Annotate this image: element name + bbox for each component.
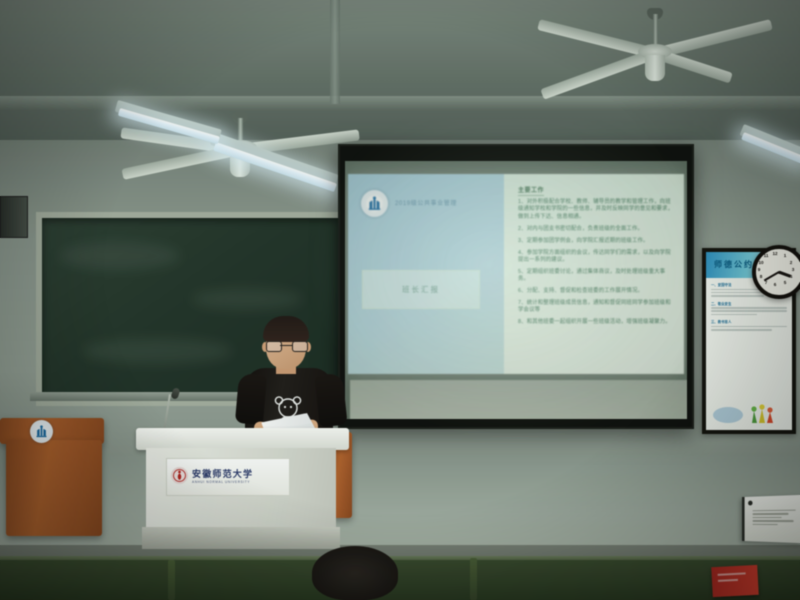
poster-section: 三、教书育人 [711, 319, 787, 330]
notice-board-icon [742, 495, 800, 543]
poster-section: 二、敬业爱生 [711, 301, 787, 316]
slide-list-item: 5、定期组织班委讨论，通过集体商议，及时处理班级重大事务。 [518, 269, 676, 284]
poster-section-title: 三、教书育人 [711, 319, 787, 324]
clock-numeral: 5 [781, 280, 789, 285]
slide-callout-text: 班长汇报 [402, 284, 440, 295]
ceiling-fan-right [530, 14, 780, 84]
clock-numeral: 4 [787, 274, 795, 279]
colorful-illustration-icon [712, 403, 784, 425]
lectern: 安徽师范大学 ANHUI NORMAL UNIVERSITY [140, 428, 345, 553]
wooden-chair-left-leg [6, 440, 102, 536]
clock-center-pin [778, 271, 781, 274]
lectern-name-en: ANHUI NORMAL UNIVERSITY [192, 480, 250, 484]
lectern-nameplate: 安徽师范大学 ANHUI NORMAL UNIVERSITY [166, 458, 290, 496]
slide-list-item: 3、定期参加团学例会，向学院汇报近期的班级工作。 [518, 238, 676, 245]
desk-divider [470, 558, 477, 600]
clock-numeral: 7 [762, 280, 770, 285]
university-seal-icon [171, 467, 188, 484]
poster-section-title: 二、敬业爱生 [711, 301, 787, 306]
clock-numeral: 3 [789, 267, 797, 272]
clock-numeral: 8 [757, 274, 765, 279]
clock-numeral: 12 [771, 251, 779, 256]
university-emblem-icon [30, 420, 53, 443]
slide-list-item: 2、对内与团支书密切配合，负责班级的全面工作。 [518, 226, 676, 233]
lectern-base [142, 527, 340, 549]
projection-screen: 2019级公共事业管理 班长汇报 主要工作 1、对外积极配合学校、教师、辅导员的… [338, 144, 694, 429]
eyeglasses-icon [266, 341, 306, 350]
wall-clock-icon: 12 1 2 3 4 5 6 7 8 9 10 11 [752, 245, 800, 299]
slide-bullet-list: 1、对外积极配合学校、教师、辅导员的教学和管理工作，向班级通知学校和学院的一些信… [518, 199, 676, 331]
clock-numeral: 2 [787, 260, 795, 265]
university-emblem-icon [361, 190, 388, 217]
notice-magnet [748, 501, 752, 506]
clock-numeral: 1 [781, 253, 789, 258]
slide-list-item: 7、统计和整理班级成员信息，通知和督促同班同学参加班级和学会议等 [518, 300, 676, 315]
slide-left-panel: 2019级公共事业管理 班长汇报 [348, 174, 504, 374]
clock-numeral: 10 [757, 260, 765, 265]
wall-speaker-icon [0, 196, 28, 238]
slide-right-panel: 主要工作 1、对外积极配合学校、教师、辅导员的教学和管理工作，向班级通知学校和学… [504, 174, 684, 374]
lectern-body: 安徽师范大学 ANHUI NORMAL UNIVERSITY [146, 448, 336, 528]
slide-list-item: 4、参加学院方面组织的会议，传达同学们的需求，以及向学院提出一系列的建议。 [518, 250, 676, 265]
fan-hub-lower [645, 55, 665, 81]
presenter-hair [263, 316, 309, 342]
clock-numeral: 9 [755, 267, 763, 272]
ceiling-post [330, 0, 340, 104]
slide-title: 2019级公共事业管理 [395, 198, 457, 207]
classroom-photo: 2019级公共事业管理 班长汇报 主要工作 1、对外积极配合学校、教师、辅导员的… [0, 0, 800, 600]
slide-section-heading: 主要工作 [518, 185, 544, 196]
slide-callout-box: 班长汇报 [362, 270, 480, 309]
lectern-name-cn: 安徽师范大学 [192, 467, 253, 480]
slide-list-item: 6、分配、支持、督促和检查班委的工作展开情况。 [518, 288, 676, 295]
lectern-top [136, 428, 349, 450]
audience-head-silhouette [312, 546, 398, 600]
clock-numeral: 11 [762, 253, 770, 258]
screen-blank-area [350, 380, 687, 419]
red-notebook [711, 565, 759, 597]
presentation-slide: 2019级公共事业管理 班长汇报 主要工作 1、对外积极配合学校、教师、辅导员的… [348, 174, 684, 374]
slide-list-item: 1、对外积极配合学校、教师、辅导员的教学和管理工作，向班级通知学校和学院的一些信… [518, 199, 676, 221]
presenter-sleeve-left [235, 373, 267, 425]
fan-rod [653, 14, 658, 48]
student-desk-row [0, 560, 800, 600]
poster-header-text: 师德公约 [714, 259, 754, 270]
clock-numeral: 6 [771, 282, 779, 287]
slide-list-item: 8、和其他班委一起组织开展一些班级活动，增强班级凝聚力。 [518, 319, 676, 326]
desk-divider [168, 560, 175, 600]
projection-surface: 2019级公共事业管理 班长汇报 主要工作 1、对外积极配合学校、教师、辅导员的… [345, 161, 687, 419]
